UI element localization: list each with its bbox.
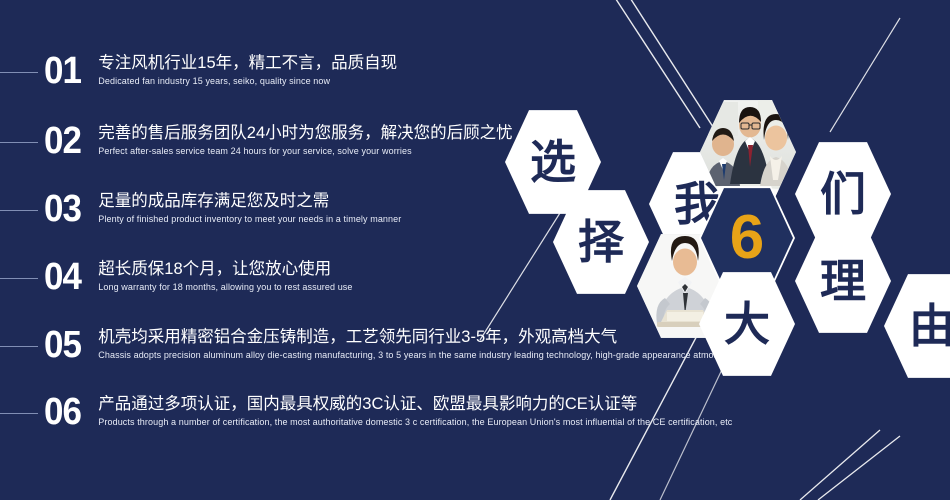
hex-you-label: 由 bbox=[884, 272, 950, 380]
hex-you: 由 bbox=[884, 272, 950, 380]
hex-li: 理 bbox=[795, 227, 891, 335]
hex-li-label: 理 bbox=[795, 227, 891, 335]
hexagon-cluster: 选 择 我 bbox=[0, 0, 950, 500]
promo-banner: 01 专注风机行业15年，精工不言，品质自现 Dedicated fan ind… bbox=[0, 0, 950, 500]
